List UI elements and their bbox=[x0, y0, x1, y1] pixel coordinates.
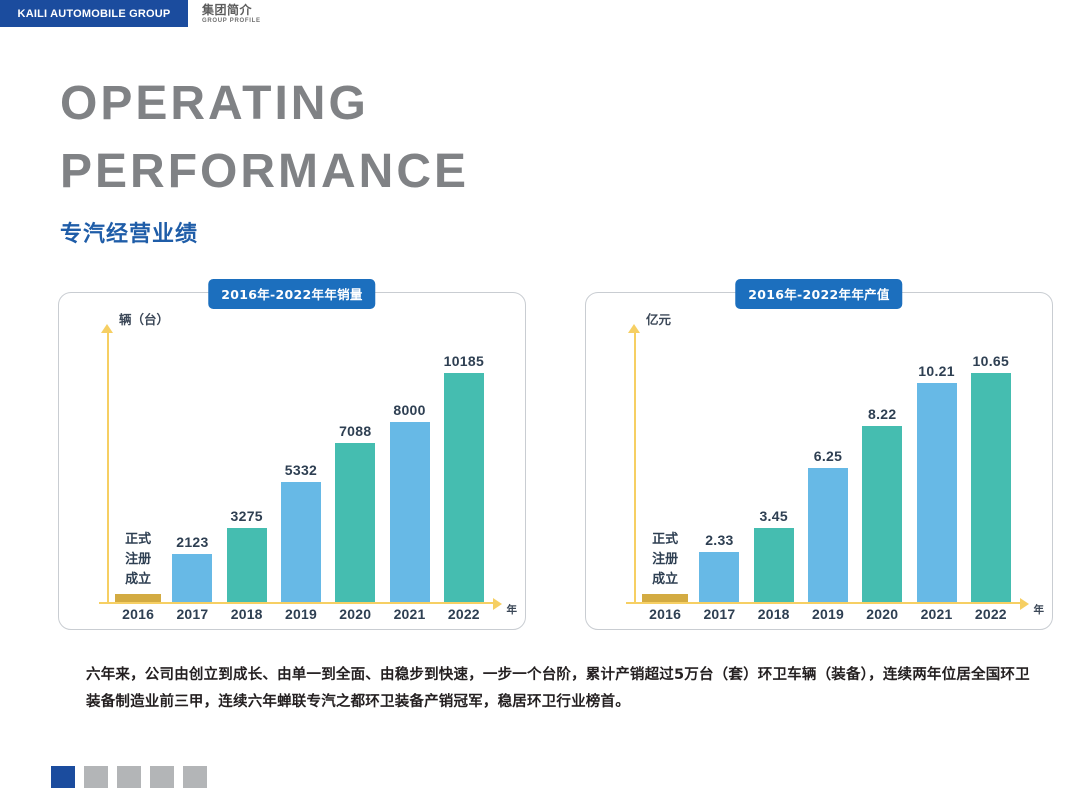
bar-value-2022: 10185 bbox=[444, 353, 484, 369]
bar-slot-2019: 5332 bbox=[274, 344, 328, 602]
x-tick-2019: 2019 bbox=[801, 606, 855, 626]
page-title: OPERATING PERFORMANCE 专汽经营业绩 bbox=[60, 70, 469, 248]
x-tick-2018: 2018 bbox=[220, 606, 274, 626]
x-tick-2021: 2021 bbox=[909, 606, 963, 626]
bar-value-2020: 7088 bbox=[339, 423, 371, 439]
footer-square-1 bbox=[51, 766, 75, 788]
y-axis-arrow-icon bbox=[628, 324, 640, 333]
page-title-line-2: PERFORMANCE bbox=[60, 138, 469, 206]
nav-item-group-profile-en: GROUP PROFILE bbox=[202, 17, 322, 25]
bar-2021[interactable] bbox=[917, 383, 957, 602]
bar-2018[interactable] bbox=[754, 528, 794, 602]
bar-2016[interactable] bbox=[115, 594, 161, 602]
x-tick-2019: 2019 bbox=[274, 606, 328, 626]
bar-slot-2020: 7088 bbox=[328, 344, 382, 602]
bar-group-sales: 正式注册成立 2123 3275 5332 bbox=[111, 344, 491, 602]
x-axis-line bbox=[99, 602, 495, 604]
bar-value-2019: 5332 bbox=[285, 462, 317, 478]
bar-slot-2020: 8.22 bbox=[855, 344, 909, 602]
x-tick-2016: 2016 bbox=[111, 606, 165, 626]
bar-2020[interactable] bbox=[862, 426, 902, 602]
footer-square-3 bbox=[117, 766, 141, 788]
chart-plot-sales: 辆（台） 年 正式注册成立 2123 3275 bbox=[59, 293, 525, 629]
x-axis-label: 年 bbox=[507, 602, 518, 617]
bar-slot-2018: 3275 bbox=[220, 344, 274, 602]
bar-slot-2022: 10185 bbox=[437, 344, 491, 602]
brand-tab[interactable]: KAILI AUTOMOBILE GROUP bbox=[0, 0, 188, 27]
chart-plot-output-value: 亿元 年 正式注册成立 2.33 3.45 bbox=[586, 293, 1052, 629]
founding-annotation-output-value: 正式注册成立 bbox=[652, 530, 678, 590]
bar-slot-2016: 正式注册成立 bbox=[111, 344, 165, 602]
footer-square-5 bbox=[183, 766, 207, 788]
charts-container: 2016年-2022年年销量 辆（台） 年 正式注册成立 2123 bbox=[58, 292, 1022, 630]
bar-2019[interactable] bbox=[808, 468, 848, 602]
bar-2017[interactable] bbox=[172, 554, 212, 602]
y-axis-label: 辆（台） bbox=[119, 309, 169, 328]
bar-value-2021: 10.21 bbox=[918, 363, 955, 379]
bar-value-2021: 8000 bbox=[393, 402, 425, 418]
bar-slot-2017: 2123 bbox=[165, 344, 219, 602]
bar-2017[interactable] bbox=[699, 552, 739, 602]
founding-annotation-sales: 正式注册成立 bbox=[125, 530, 151, 590]
x-tick-2020: 2020 bbox=[855, 606, 909, 626]
x-tick-2022: 2022 bbox=[964, 606, 1018, 626]
bar-value-2018: 3.45 bbox=[759, 508, 787, 524]
x-tick-2020: 2020 bbox=[328, 606, 382, 626]
bar-2016[interactable] bbox=[642, 594, 688, 602]
bar-2020[interactable] bbox=[335, 443, 375, 602]
x-tick-2018: 2018 bbox=[747, 606, 801, 626]
bar-slot-2018: 3.45 bbox=[747, 344, 801, 602]
x-tick-2016: 2016 bbox=[638, 606, 692, 626]
bar-slot-2017: 2.33 bbox=[692, 344, 746, 602]
x-tick-2017: 2017 bbox=[692, 606, 746, 626]
bar-value-2019: 6.25 bbox=[814, 448, 842, 464]
page-title-line-1: OPERATING bbox=[60, 70, 469, 138]
bar-slot-2021: 10.21 bbox=[909, 344, 963, 602]
x-axis-ticks-output-value: 2016 2017 2018 2019 2020 2021 2022 bbox=[638, 606, 1018, 626]
bar-value-2020: 8.22 bbox=[868, 406, 896, 422]
y-axis-arrow-icon bbox=[101, 324, 113, 333]
nav-item-group-profile[interactable]: 集团简介 GROUP PROFILE bbox=[202, 1, 322, 27]
nav-item-group-profile-cn: 集团简介 bbox=[202, 4, 322, 17]
bar-value-2018: 3275 bbox=[231, 508, 263, 524]
x-tick-2022: 2022 bbox=[437, 606, 491, 626]
footer-square-decoration bbox=[51, 766, 207, 788]
x-tick-2021: 2021 bbox=[382, 606, 436, 626]
x-axis-line bbox=[626, 602, 1022, 604]
y-axis-line bbox=[634, 331, 636, 603]
bar-slot-2022: 10.65 bbox=[964, 344, 1018, 602]
x-axis-ticks-sales: 2016 2017 2018 2019 2020 2021 2022 bbox=[111, 606, 491, 626]
footer-square-2 bbox=[84, 766, 108, 788]
bar-2021[interactable] bbox=[390, 422, 430, 602]
bar-value-2017: 2.33 bbox=[705, 532, 733, 548]
chart-card-output-value: 2016年-2022年年产值 亿元 年 正式注册成立 2.33 bbox=[585, 292, 1053, 630]
bar-2022[interactable] bbox=[444, 373, 484, 602]
bar-group-output-value: 正式注册成立 2.33 3.45 6.25 bbox=[638, 344, 1018, 602]
x-axis-arrow-icon bbox=[493, 598, 502, 610]
bar-slot-2021: 8000 bbox=[382, 344, 436, 602]
page-subtitle: 专汽经营业绩 bbox=[60, 216, 469, 248]
summary-paragraph: 六年来，公司由创立到成长、由单一到全面、由稳步到快速，一步一个台阶，累计产销超过… bbox=[86, 662, 1038, 716]
slide-root: KAILI AUTOMOBILE GROUP 集团简介 GROUP PROFIL… bbox=[0, 0, 1080, 793]
bar-2019[interactable] bbox=[281, 482, 321, 602]
y-axis-label: 亿元 bbox=[646, 309, 671, 328]
bar-value-2022: 10.65 bbox=[973, 353, 1010, 369]
chart-card-sales: 2016年-2022年年销量 辆（台） 年 正式注册成立 2123 bbox=[58, 292, 526, 630]
header-bar: KAILI AUTOMOBILE GROUP 集团简介 GROUP PROFIL… bbox=[0, 0, 1080, 27]
y-axis-line bbox=[107, 331, 109, 603]
bar-2018[interactable] bbox=[227, 528, 267, 602]
bar-value-2017: 2123 bbox=[176, 534, 208, 550]
x-tick-2017: 2017 bbox=[165, 606, 219, 626]
footer-square-4 bbox=[150, 766, 174, 788]
x-axis-arrow-icon bbox=[1020, 598, 1029, 610]
bar-2022[interactable] bbox=[971, 373, 1011, 602]
bar-slot-2019: 6.25 bbox=[801, 344, 855, 602]
x-axis-label: 年 bbox=[1034, 602, 1045, 617]
bar-slot-2016: 正式注册成立 bbox=[638, 344, 692, 602]
